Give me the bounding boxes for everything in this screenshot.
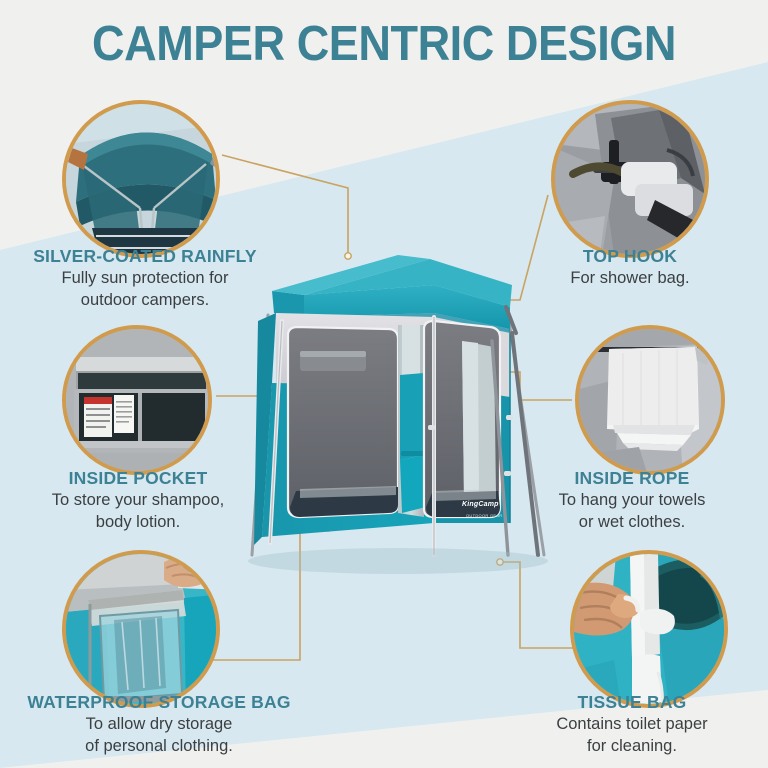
feature-desc-line1-tissue-bag: Contains toilet paper xyxy=(498,715,766,735)
feature-caption-inside-rope: INSIDE ROPE To hang your towels or wet c… xyxy=(498,468,766,532)
feature-caption-tissue-bag: TISSUE BAG Contains toilet paper for cle… xyxy=(498,692,766,756)
feature-photo-waterproof-storage-bag xyxy=(62,550,220,708)
feature-heading-waterproof-storage-bag: WATERPROOF STORAGE BAG xyxy=(0,692,318,713)
feature-heading-tissue-bag: TISSUE BAG xyxy=(498,692,766,713)
feature-desc-line2-inside-rope: or wet clothes. xyxy=(498,513,766,533)
feature-heading-top-hook: TOP HOOK xyxy=(496,246,764,267)
feature-photo-inside-rope xyxy=(575,325,725,475)
feature-caption-silver-coated-rainfly: SILVER-COATED RAINFLY Fully sun protecti… xyxy=(0,246,290,310)
feature-photo-tissue-bag xyxy=(570,550,728,708)
feature-desc-line2-tissue-bag: for cleaning. xyxy=(498,737,766,757)
infographic-canvas: CAMPER CENTRIC DESIGN xyxy=(0,0,768,768)
feature-caption-inside-pocket: INSIDE POCKET To store your shampoo, bod… xyxy=(0,468,276,532)
feature-desc-line1-silver-coated-rainfly: Fully sun protection for xyxy=(0,269,290,289)
brand-logo: KingCamp xyxy=(462,501,499,508)
feature-heading-inside-rope: INSIDE ROPE xyxy=(498,468,766,489)
feature-desc-line2-waterproof-storage-bag: of personal clothing. xyxy=(0,737,318,757)
feature-photo-silver-coated-rainfly xyxy=(62,100,220,258)
feature-desc-line1-waterproof-storage-bag: To allow dry storage xyxy=(0,715,318,735)
feature-caption-waterproof-storage-bag: WATERPROOF STORAGE BAG To allow dry stor… xyxy=(0,692,318,756)
feature-heading-inside-pocket: INSIDE POCKET xyxy=(0,468,276,489)
feature-caption-top-hook: TOP HOOK For shower bag. xyxy=(496,246,764,289)
feature-photo-top-hook xyxy=(551,100,709,258)
page-title: CAMPER CENTRIC DESIGN xyxy=(31,16,738,72)
feature-desc-line1-top-hook: For shower bag. xyxy=(496,269,764,289)
feature-heading-silver-coated-rainfly: SILVER-COATED RAINFLY xyxy=(0,246,290,267)
feature-desc-line1-inside-pocket: To store your shampoo, xyxy=(0,491,276,511)
feature-desc-line2-inside-pocket: body lotion. xyxy=(0,513,276,533)
feature-photo-inside-pocket xyxy=(62,325,212,475)
feature-desc-line2-silver-coated-rainfly: outdoor campers. xyxy=(0,291,290,311)
feature-desc-line1-inside-rope: To hang your towels xyxy=(498,491,766,511)
